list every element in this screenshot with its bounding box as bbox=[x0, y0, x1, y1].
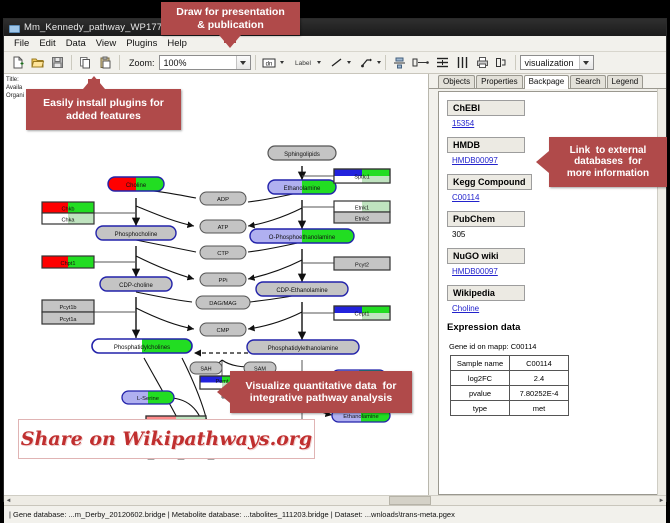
node-etnk1: Etnk1 bbox=[334, 201, 390, 212]
svg-text:PPi: PPi bbox=[218, 278, 227, 284]
status-text: | Gene database: ...m_Derby_20120602.bri… bbox=[9, 510, 455, 519]
callout-links-text: Link to externaldatabases formore inform… bbox=[567, 145, 649, 180]
svg-text:Chpt1: Chpt1 bbox=[61, 261, 76, 267]
node-o-phosphoethanolamine: O-Phosphoethanolamine bbox=[250, 229, 354, 243]
new-icon[interactable] bbox=[8, 53, 27, 72]
node-sphingolipids: Sphingolipids bbox=[268, 146, 336, 160]
node-sah: SAH bbox=[190, 362, 222, 374]
tab-properties[interactable]: Properties bbox=[476, 75, 522, 88]
node-phosphatidylethanolamine: Phosphatidylethanolamine bbox=[247, 340, 359, 354]
distribute-icon[interactable] bbox=[453, 53, 472, 72]
svg-text:Chkb: Chkb bbox=[61, 207, 74, 213]
table-row: pvalue 7.80252E-4 bbox=[451, 386, 569, 401]
svg-text:DAG/MAG: DAG/MAG bbox=[209, 301, 237, 307]
open-icon[interactable] bbox=[28, 53, 47, 72]
svg-text:Ethanolamine: Ethanolamine bbox=[284, 186, 321, 192]
cell-value: 7.80252E-4 bbox=[510, 386, 569, 401]
menu-help[interactable]: Help bbox=[162, 36, 192, 52]
table-row: log2FC 2.4 bbox=[451, 371, 569, 386]
tool-bar: Zoom: 100% dn Label bbox=[4, 52, 666, 74]
callout-draw-text: Draw for presentation& publication bbox=[176, 6, 285, 30]
callout-draw-arrow-icon bbox=[219, 35, 241, 48]
svg-text:Pcyt1b: Pcyt1b bbox=[59, 305, 76, 311]
section-title-nugo: NuGO wiki bbox=[447, 248, 525, 264]
scroll-right-icon[interactable]: ► bbox=[657, 496, 666, 505]
cell-key: pvalue bbox=[451, 386, 510, 401]
chevron-down-icon[interactable] bbox=[236, 56, 250, 69]
interaction-dropdown-icon bbox=[377, 61, 381, 64]
svg-text:O-Phosphoethanolamine: O-Phosphoethanolamine bbox=[269, 235, 336, 241]
menu-file[interactable]: File bbox=[9, 36, 34, 52]
tab-backpage[interactable]: Backpage bbox=[524, 75, 570, 89]
section-title-wikipedia: Wikipedia bbox=[447, 285, 525, 301]
label-dropdown-icon bbox=[317, 61, 321, 64]
canvas-hscrollbar[interactable]: ◄ ► bbox=[4, 495, 666, 505]
node-etnk2: Etnk2 bbox=[334, 212, 390, 223]
save-icon[interactable] bbox=[48, 53, 67, 72]
callout-plugins: Easily install plugins foradded features bbox=[26, 89, 181, 130]
title-bar: Mm_Kennedy_pathway_WP1771_45176.gpml bbox=[4, 19, 666, 36]
svg-text:Sptlc1: Sptlc1 bbox=[354, 175, 370, 181]
paste-icon[interactable] bbox=[96, 53, 115, 72]
info-title-label: Title: bbox=[6, 76, 24, 84]
tab-legend[interactable]: Legend bbox=[607, 75, 644, 88]
node-pcyt1a: Pcyt1a bbox=[42, 312, 94, 324]
line-dropdown-icon bbox=[347, 61, 351, 64]
toolbar-separator bbox=[515, 55, 516, 70]
visualization-combo[interactable]: visualization bbox=[520, 55, 594, 70]
cell-value: C00114 bbox=[510, 356, 569, 371]
value-pubchem: 305 bbox=[452, 230, 663, 239]
menu-edit[interactable]: Edit bbox=[34, 36, 60, 52]
zoom-label: Zoom: bbox=[129, 58, 155, 68]
node-ctp: CTP bbox=[200, 246, 246, 259]
svg-text:ATP: ATP bbox=[218, 225, 229, 231]
share-banner-text: Share on Wikipathways.org bbox=[21, 428, 312, 450]
scroll-thumb[interactable] bbox=[389, 496, 431, 505]
datanode-dropdown-icon bbox=[280, 61, 284, 64]
toolbar-separator bbox=[385, 55, 386, 70]
gene-id-line: Gene id on mapp: C00114 bbox=[449, 342, 663, 351]
callout-links: Link to externaldatabases formore inform… bbox=[549, 137, 667, 187]
interaction-icon[interactable] bbox=[357, 53, 376, 72]
svg-text:dn: dn bbox=[266, 61, 273, 67]
menu-view[interactable]: View bbox=[91, 36, 121, 52]
svg-text:Phosphocholine: Phosphocholine bbox=[115, 232, 158, 238]
share-banner: Share on Wikipathways.org bbox=[18, 419, 315, 459]
info-available-label: Availa bbox=[6, 84, 24, 92]
node-dag-mag: DAG/MAG bbox=[196, 296, 250, 309]
svg-text:Pcyt1a: Pcyt1a bbox=[59, 317, 77, 323]
print-icon[interactable] bbox=[473, 53, 492, 72]
svg-text:CDP-Ethanolamine: CDP-Ethanolamine bbox=[276, 288, 328, 294]
zoom-combo[interactable]: 100% bbox=[159, 55, 251, 70]
node-cmp: CMP bbox=[200, 323, 246, 336]
svg-text:CDP-choline: CDP-choline bbox=[119, 283, 153, 289]
status-bar: | Gene database: ...m_Derby_20120602.bri… bbox=[4, 505, 666, 523]
link-wikipedia[interactable]: Choline bbox=[452, 304, 663, 313]
line-icon[interactable] bbox=[327, 53, 346, 72]
svg-text:Cept1: Cept1 bbox=[355, 312, 370, 318]
link-kegg[interactable]: C00114 bbox=[452, 193, 663, 202]
expression-data-heading: Expression data bbox=[447, 322, 663, 333]
toolbar-separator bbox=[255, 55, 256, 70]
toolbar-separator bbox=[71, 55, 72, 70]
svg-text:Etnk1: Etnk1 bbox=[355, 206, 369, 212]
node-atp: ATP bbox=[200, 220, 246, 233]
node-cdp-ethanolamine: CDP-Ethanolamine bbox=[256, 282, 348, 296]
svg-text:L-Serine: L-Serine bbox=[137, 396, 159, 402]
node-choline-top: Choline bbox=[108, 177, 164, 191]
tab-objects[interactable]: Objects bbox=[438, 75, 475, 88]
node-l-serine-left: L-Serine bbox=[122, 391, 174, 404]
svg-text:Phosphatidylethanolamine: Phosphatidylethanolamine bbox=[268, 346, 339, 352]
chevron-down-icon[interactable] bbox=[579, 56, 593, 69]
link-nugo[interactable]: HMDB00097 bbox=[452, 267, 663, 276]
svg-text:Pcyt2: Pcyt2 bbox=[355, 262, 369, 268]
svg-text:Label: Label bbox=[295, 60, 311, 67]
section-title-hmdb: HMDB bbox=[447, 137, 525, 153]
cell-key: log2FC bbox=[451, 371, 510, 386]
link-chebi[interactable]: 15354 bbox=[452, 119, 663, 128]
node-phosphatidylcholines: Phosphatidylcholines bbox=[92, 339, 192, 353]
cell-value: met bbox=[510, 401, 569, 416]
svg-text:Chka: Chka bbox=[61, 218, 75, 224]
cell-value: 2.4 bbox=[510, 371, 569, 386]
svg-text:CMP: CMP bbox=[217, 328, 230, 334]
svg-text:Phosphatidylcholines: Phosphatidylcholines bbox=[114, 345, 170, 351]
datanode-icon[interactable]: dn bbox=[260, 53, 279, 72]
expression-table: Sample name C00114 log2FC 2.4 pvalue 7.8… bbox=[450, 355, 569, 416]
callout-visualize: Visualize quantitative data forintegrati… bbox=[230, 371, 412, 413]
svg-text:Sphingolipids: Sphingolipids bbox=[284, 152, 320, 158]
cell-key: Sample name bbox=[451, 356, 510, 371]
callout-visualize-arrow-icon bbox=[217, 381, 230, 403]
copy-icon[interactable] bbox=[76, 53, 95, 72]
pathway-info-labels: Title: Availa Organi bbox=[6, 76, 24, 100]
table-row: type met bbox=[451, 401, 569, 416]
node-chpt1: Chpt1 bbox=[42, 256, 94, 268]
node-phosphocholine: Phosphocholine bbox=[96, 226, 176, 240]
node-pcyt2: Pcyt2 bbox=[334, 257, 390, 270]
menu-bar: File Edit Data View Plugins Help bbox=[4, 36, 666, 52]
toolbar-separator bbox=[119, 55, 120, 70]
align-icon[interactable] bbox=[390, 53, 409, 72]
svg-text:Etnk2: Etnk2 bbox=[355, 217, 369, 223]
section-title-kegg: Kegg Compound bbox=[447, 174, 532, 190]
node-chka: Chka bbox=[42, 213, 94, 224]
node-sptlc1: Sptlc1 bbox=[334, 169, 390, 183]
zoom-value: 100% bbox=[160, 58, 236, 68]
table-row: Sample name C00114 bbox=[451, 356, 569, 371]
svg-text:ADP: ADP bbox=[217, 197, 229, 203]
callout-links-arrow-icon bbox=[536, 151, 549, 173]
node-adp: ADP bbox=[200, 192, 246, 205]
visualization-value: visualization bbox=[521, 58, 579, 68]
node-cdp-choline: CDP-choline bbox=[100, 277, 172, 291]
svg-text:SAH: SAH bbox=[200, 367, 211, 373]
scroll-left-icon[interactable]: ◄ bbox=[4, 496, 13, 505]
svg-text:CTP: CTP bbox=[217, 251, 229, 257]
cell-key: type bbox=[451, 401, 510, 416]
node-ppi: PPi bbox=[200, 273, 246, 286]
section-title-pubchem: PubChem bbox=[447, 211, 525, 227]
callout-visualize-text: Visualize quantitative data forintegrati… bbox=[246, 380, 397, 404]
application-icon bbox=[8, 22, 19, 33]
node-ethanolamine-top: Ethanolamine bbox=[268, 180, 336, 194]
info-organism-label: Organi bbox=[6, 92, 24, 100]
svg-text:Ethanolamine: Ethanolamine bbox=[343, 414, 378, 420]
tab-search[interactable]: Search bbox=[570, 75, 605, 88]
menu-data[interactable]: Data bbox=[61, 36, 91, 52]
callout-plugins-text: Easily install plugins foradded features bbox=[43, 97, 164, 121]
callout-plugins-arrow-icon bbox=[83, 76, 105, 89]
svg-text:Choline: Choline bbox=[126, 183, 147, 189]
node-cept1: Cept1 bbox=[334, 306, 390, 320]
side-panel-tabs: Objects Properties Backpage Search Legen… bbox=[429, 74, 666, 89]
callout-draw: Draw for presentation& publication bbox=[161, 2, 300, 35]
order-icon[interactable] bbox=[493, 53, 511, 72]
group-icon[interactable] bbox=[410, 53, 432, 72]
stack-icon[interactable] bbox=[433, 53, 452, 72]
node-chkb: Chkb bbox=[42, 202, 94, 213]
label-icon[interactable]: Label bbox=[290, 53, 316, 72]
menu-plugins[interactable]: Plugins bbox=[121, 36, 162, 52]
node-pcyt1b: Pcyt1b bbox=[42, 300, 94, 312]
section-title-chebi: ChEBI bbox=[447, 100, 525, 116]
